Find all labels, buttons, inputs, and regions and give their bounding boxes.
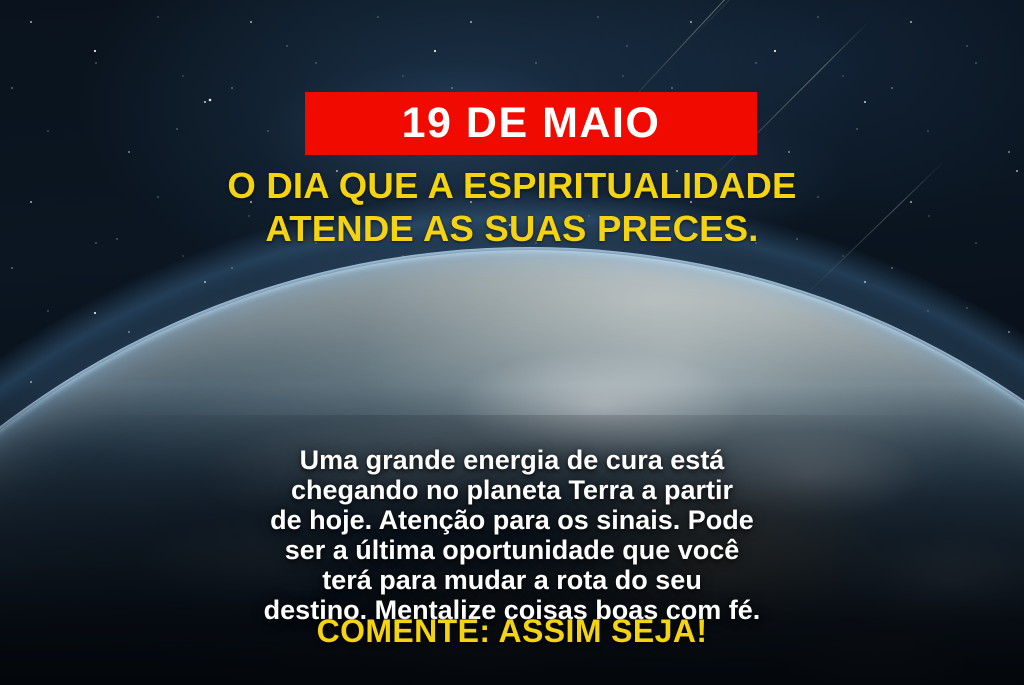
body-line-3: de hoje. Atenção para os sinais. Pode [50, 507, 974, 534]
body-paragraph: Uma grande energia de cura está chegando… [50, 447, 974, 627]
date-banner: 19 DE MAIO [305, 92, 757, 155]
headline-line-2: ATENDE AS SUAS PRECES. [0, 208, 1024, 251]
body-line-1: Uma grande energia de cura está [50, 447, 974, 474]
body-line-2: chegando no planeta Terra a partir [50, 477, 974, 504]
body-line-4: ser a última oportunidade que você [50, 537, 974, 564]
body-line-5: terá para mudar a rota do seu [50, 567, 974, 594]
poster-content: 19 DE MAIO O DIA QUE A ESPIRITUALIDADE A… [0, 0, 1024, 685]
headline: O DIA QUE A ESPIRITUALIDADE ATENDE AS SU… [0, 165, 1024, 250]
poster-image: 19 DE MAIO O DIA QUE A ESPIRITUALIDADE A… [0, 0, 1024, 685]
date-banner-label: 19 DE MAIO [402, 102, 661, 145]
call-to-action-text: COMENTE: ASSIM SEJA! [0, 615, 1024, 647]
headline-line-1: O DIA QUE A ESPIRITUALIDADE [0, 165, 1024, 208]
